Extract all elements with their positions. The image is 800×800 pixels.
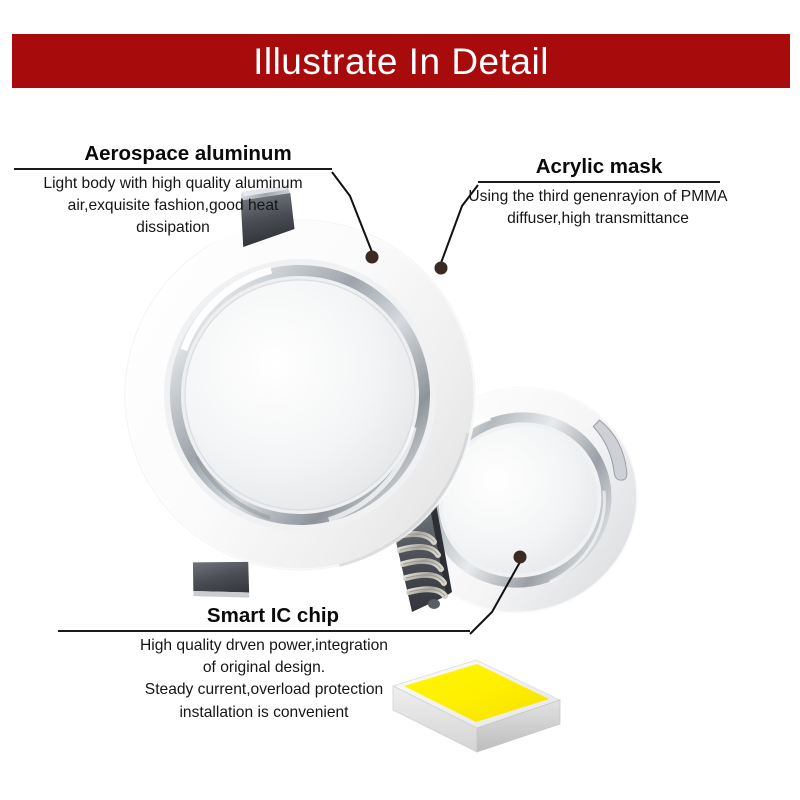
callout-body-aerospace: Light body with high quality aluminum ai…	[14, 173, 332, 239]
callout-title-acrylic: Acrylic mask	[478, 155, 720, 179]
callout-smart-ic-chip: Smart IC chip High quality drven power,i…	[58, 604, 470, 724]
callout-rule-acrylic	[478, 181, 720, 184]
callout-aerospace-aluminum: Aerospace aluminum Light body with high …	[14, 142, 332, 240]
callout-body-acrylic: Using the third genenrayion of PMMA diff…	[442, 186, 754, 230]
infographic-page: Illustrate In Detail Aerospace aluminum …	[0, 0, 800, 800]
callout-title-aerospace: Aerospace aluminum	[14, 142, 332, 166]
callout-title-smartic: Smart IC chip	[58, 604, 470, 628]
callout-rule-aerospace	[14, 168, 332, 171]
page-title: Illustrate In Detail	[253, 43, 549, 80]
callout-body-smartic: High quality drven power,integration of …	[58, 635, 470, 724]
callout-acrylic-mask: Acrylic mask Using the third genenrayion…	[478, 155, 720, 230]
callout-rule-smartic	[58, 630, 470, 633]
header-banner: Illustrate In Detail	[12, 34, 790, 88]
